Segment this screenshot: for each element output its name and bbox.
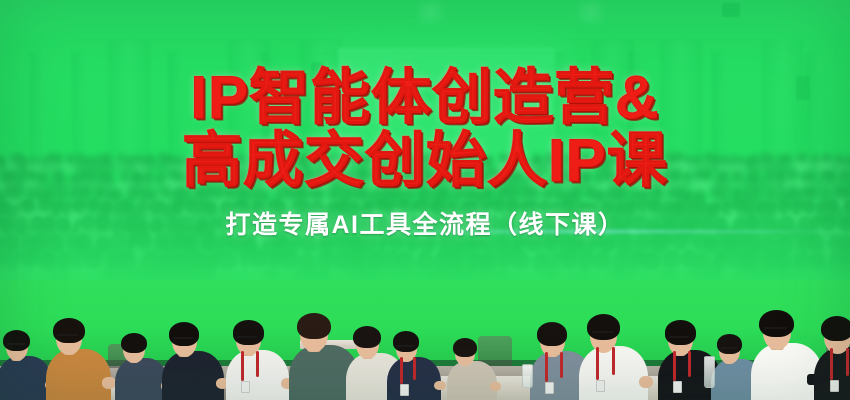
person-hand: [434, 381, 445, 391]
eyeglasses-icon: [57, 334, 78, 336]
person-hand: [639, 376, 653, 388]
eyeglasses-icon: [669, 336, 689, 338]
lanyard: [413, 357, 416, 380]
eyeglasses-icon: [764, 327, 787, 329]
person-hair: [587, 314, 620, 340]
lanyard: [545, 352, 548, 382]
eyeglasses-icon: [592, 331, 614, 333]
person-hair: [393, 331, 419, 352]
person-hair: [353, 326, 382, 349]
eyeglasses-icon: [173, 337, 193, 339]
subtitle: 打造专属AI工具全流程（线下课）: [225, 205, 624, 241]
person-hair: [169, 322, 199, 346]
person-hair: [759, 310, 794, 338]
person-hair: [665, 320, 696, 344]
person-hair: [233, 320, 264, 344]
person-hair: [121, 333, 147, 353]
lanyard: [612, 347, 615, 376]
audience-member: [392, 331, 454, 400]
lanyard: [596, 347, 599, 380]
audience-member: [586, 314, 663, 400]
lanyard: [846, 348, 849, 376]
person-hand: [102, 377, 116, 389]
audience-member: [820, 316, 850, 400]
promo-banner: IP智能体创造营& 高成交创始人IP课 打造专属AI工具全流程（线下课）: [0, 0, 850, 400]
lanyard: [400, 357, 403, 383]
headline-line-1: IP智能体创造营&: [190, 67, 659, 128]
person-hair: [297, 313, 331, 340]
person-hair: [717, 334, 742, 354]
person-hand: [490, 382, 500, 391]
water-bottle: [522, 364, 533, 388]
person-hair: [537, 322, 567, 346]
name-badge: [673, 381, 682, 393]
eyeglasses-icon: [720, 347, 737, 349]
headline-line-2: 高成交创始人IP课: [182, 130, 668, 191]
name-badge: [241, 381, 250, 393]
name-badge: [400, 384, 409, 396]
eyeglasses-icon: [237, 336, 257, 338]
audience-member: [452, 338, 508, 400]
person-hair: [3, 330, 30, 351]
name-badge: [830, 380, 839, 392]
name-badge: [596, 380, 605, 392]
person-hair: [453, 338, 477, 357]
lanyard: [673, 351, 676, 382]
eyeglasses-icon: [7, 343, 25, 345]
person-hair: [821, 316, 850, 342]
water-bottle: [704, 356, 715, 388]
lanyard: [241, 351, 244, 382]
lanyard: [830, 348, 833, 380]
name-badge: [545, 382, 554, 394]
eyeglasses-icon: [396, 345, 414, 347]
lanyard: [560, 352, 563, 378]
headline-block: IP智能体创造营& 高成交创始人IP课 打造专属AI工具全流程（线下课）: [0, 0, 850, 300]
person-hair: [53, 318, 85, 343]
